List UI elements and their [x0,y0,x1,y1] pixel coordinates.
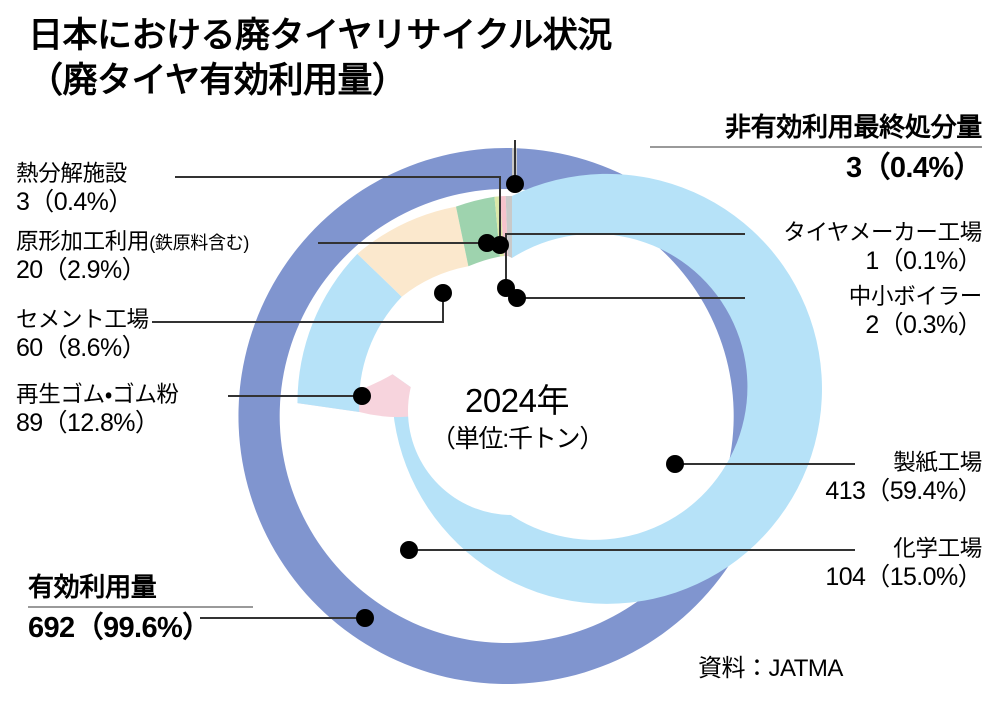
label-paper-mill-name: 製紙工場 [825,449,982,476]
label-recycled-rubber-value: 89（12.8%） [16,408,179,439]
label-chemical-plant-value: 104（15.0%） [825,562,982,593]
source-note: 資料：JATMA [698,648,843,683]
leader-dot-cement [434,284,452,302]
label-raw-processing-name: 原形加工利用(鉄原料含む) [16,228,249,255]
leader-dot-small-boiler [508,289,526,307]
label-chemical-plant-name: 化学工場 [825,535,982,562]
leader-dot-recycled-rubber [353,387,371,405]
label-raw-processing: 原形加工利用(鉄原料含む) 20（2.9%） [16,228,249,286]
label-pyrolysis: 熱分解施設 3（0.4%） [16,160,133,218]
label-final-disposal: 非有効利用最終処分量 3（0.4%） [650,112,982,186]
label-effective-use-name: 有効利用量 [28,572,253,608]
label-tire-maker-name: タイヤメーカー工場 [783,219,982,246]
leader-dot-final-disposal [506,175,524,193]
label-pyrolysis-value: 3（0.4%） [16,187,133,218]
label-chemical-plant: 化学工場 104（15.0%） [825,535,982,593]
label-recycled-rubber: 再生ゴム・ゴム粉 89（12.8%） [16,381,179,439]
center-unit: （単位:千トン） [402,423,632,456]
chart-page: 日本における廃タイヤリサイクル状況 （廃タイヤ有効利用量） [0,0,1000,717]
label-final-disposal-name: 非有効利用最終処分量 [650,112,982,148]
label-effective-use-value: 692（99.6%） [28,608,253,646]
leader-dot-raw-processing [478,234,496,252]
label-effective-use: 有効利用量 692（99.6%） [28,572,253,646]
center-year: 2024年 [402,380,632,423]
leader-dot-paper-mill [666,455,684,473]
label-tire-maker-value: 1（0.1%） [783,246,982,277]
label-small-boiler-name: 中小ボイラー [849,283,982,310]
label-paper-mill-value: 413（59.4%） [825,476,982,507]
label-cement-name: セメント工場 [16,306,149,333]
label-cement-value: 60（8.6%） [16,333,149,364]
label-small-boiler: 中小ボイラー 2（0.3%） [849,283,982,341]
leader-dot-chemical-plant [400,541,418,559]
leader-dot-effective-use [356,609,374,627]
label-cement: セメント工場 60（8.6%） [16,306,149,364]
label-final-disposal-value: 3（0.4%） [650,148,982,186]
label-recycled-rubber-name: 再生ゴム・ゴム粉 [16,381,179,408]
label-pyrolysis-name: 熱分解施設 [16,160,133,187]
donut-center-label: 2024年 （単位:千トン） [402,380,632,455]
label-small-boiler-value: 2（0.3%） [849,310,982,341]
label-tire-maker: タイヤメーカー工場 1（0.1%） [783,219,982,277]
label-paper-mill: 製紙工場 413（59.4%） [825,449,982,507]
label-raw-processing-value: 20（2.9%） [16,255,249,286]
